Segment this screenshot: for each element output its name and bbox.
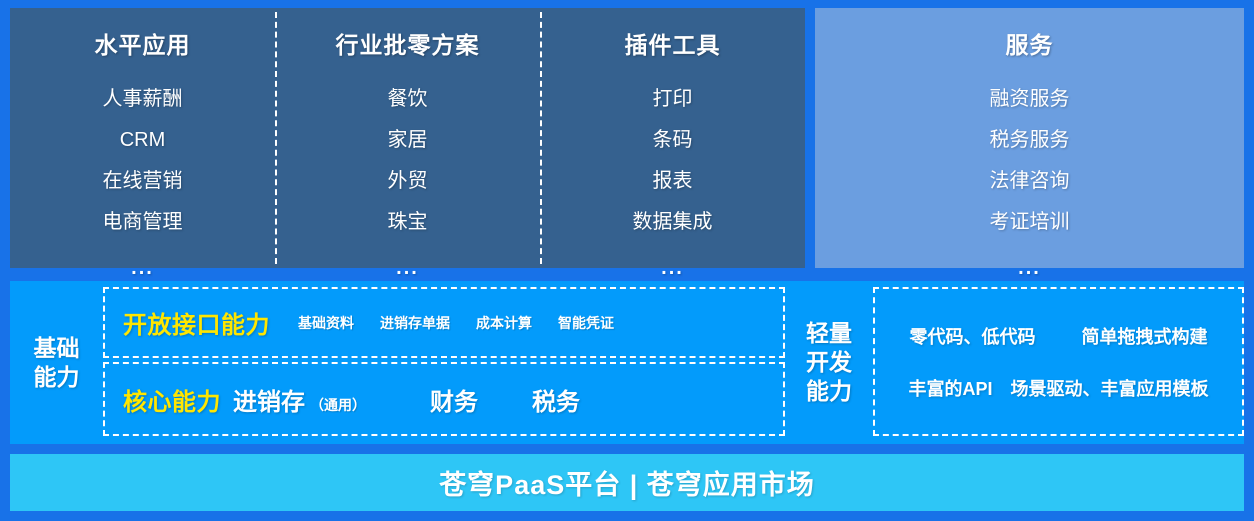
app-column-industry-solutions[interactable]: 行业批零方案 餐饮 家居 外贸 珠宝 ... <box>275 8 540 268</box>
list-ellipsis: ... <box>661 257 684 280</box>
open-api-capability-box[interactable]: 开放接口能力 基础资料 进销存单据 成本计算 智能凭证 <box>103 287 785 358</box>
core-capability-item[interactable]: 税务 <box>532 382 580 417</box>
list-ellipsis: ... <box>1018 257 1041 280</box>
base-capability-section: 基础 能力 开放接口能力 基础资料 进销存单据 成本计算 智能凭证 <box>10 281 785 444</box>
capability-tag[interactable]: 成本计算 <box>476 313 532 333</box>
open-api-tag-row: 基础资料 进销存单据 成本计算 智能凭证 <box>298 313 614 333</box>
list-item[interactable]: 融资服务 <box>990 79 1070 120</box>
light-development-row: 零代码、低代码 简单拖拽式构建 <box>889 323 1228 349</box>
light-development-row: 丰富的API 场景驱动、丰富应用模板 <box>889 375 1228 401</box>
light-development-label: 轻量 开发 能力 <box>785 281 873 444</box>
core-capability-main-note: （通用） <box>310 395 366 415</box>
list-item[interactable]: 报表 <box>653 161 693 202</box>
light-development-item[interactable]: 丰富的API <box>908 375 992 401</box>
core-capability-box[interactable]: 核心能力 进销存 （通用） 财务 税务 <box>103 362 785 436</box>
column-title: 插件工具 <box>625 26 721 60</box>
list-item[interactable]: 税务服务 <box>990 120 1070 161</box>
capabilities-band: 基础 能力 开放接口能力 基础资料 进销存单据 成本计算 智能凭证 <box>0 281 1254 444</box>
light-development-box[interactable]: 零代码、低代码 简单拖拽式构建 丰富的API 场景驱动、丰富应用模板 <box>873 287 1244 436</box>
platform-bar-title: 苍穹PaaS平台 | 苍穹应用市场 <box>439 463 815 502</box>
architecture-diagram: 水平应用 人事薪酬 CRM 在线营销 电商管理 ... 行业批零方案 餐饮 家居… <box>0 0 1254 521</box>
list-item[interactable]: 珠宝 <box>388 202 428 243</box>
column-title: 行业批零方案 <box>336 26 480 60</box>
core-capability-main[interactable]: 进销存 <box>233 382 305 417</box>
list-item[interactable]: 条码 <box>653 120 693 161</box>
list-ellipsis: ... <box>396 257 419 280</box>
services-panel[interactable]: 服务 融资服务 税务服务 法律咨询 考证培训 ... <box>815 8 1244 268</box>
capability-tag[interactable]: 进销存单据 <box>380 313 450 333</box>
list-item[interactable]: 考证培训 <box>990 202 1070 243</box>
list-item[interactable]: 家居 <box>388 120 428 161</box>
list-ellipsis: ... <box>131 257 154 280</box>
light-development-item[interactable]: 简单拖拽式构建 <box>1082 323 1208 349</box>
list-item[interactable]: 数据集成 <box>633 202 713 243</box>
list-item[interactable]: 法律咨询 <box>990 161 1070 202</box>
list-item[interactable]: 餐饮 <box>388 79 428 120</box>
platform-bar[interactable]: 苍穹PaaS平台 | 苍穹应用市场 <box>10 454 1244 511</box>
column-title: 水平应用 <box>95 26 191 60</box>
capability-tag[interactable]: 智能凭证 <box>558 313 614 333</box>
capability-tag[interactable]: 基础资料 <box>298 313 354 333</box>
list-item[interactable]: 人事薪酬 <box>103 79 183 120</box>
base-capability-boxes: 开放接口能力 基础资料 进销存单据 成本计算 智能凭证 核心能力 进销存 （通用… <box>103 281 785 444</box>
light-development-item[interactable]: 零代码、低代码 <box>910 323 1036 349</box>
list-item[interactable]: 在线营销 <box>103 161 183 202</box>
list-item[interactable]: 外贸 <box>388 161 428 202</box>
light-development-section: 轻量 开发 能力 零代码、低代码 简单拖拽式构建 丰富的API 场景驱动、丰富应… <box>785 281 1244 444</box>
base-capability-label: 基础 能力 <box>10 281 103 444</box>
list-item[interactable]: CRM <box>120 120 166 161</box>
core-capability-heading: 核心能力 <box>123 382 221 417</box>
list-item[interactable]: 打印 <box>653 79 693 120</box>
applications-panel: 水平应用 人事薪酬 CRM 在线营销 电商管理 ... 行业批零方案 餐饮 家居… <box>10 8 805 268</box>
services-title: 服务 <box>1006 26 1054 60</box>
light-development-label-line3: 能力 <box>806 377 852 406</box>
core-capability-row: 核心能力 进销存 （通用） 财务 税务 <box>123 382 783 417</box>
app-column-horizontal-apps[interactable]: 水平应用 人事薪酬 CRM 在线营销 电商管理 ... <box>10 8 275 268</box>
base-capability-label-line1: 基础 <box>34 334 80 363</box>
list-item[interactable]: 电商管理 <box>103 202 183 243</box>
core-capability-item[interactable]: 财务 <box>430 382 478 417</box>
light-development-label-line1: 轻量 <box>806 319 852 348</box>
app-column-plugin-tools[interactable]: 插件工具 打印 条码 报表 数据集成 ... <box>540 8 805 268</box>
base-capability-label-line2: 能力 <box>34 363 80 392</box>
applications-band: 水平应用 人事薪酬 CRM 在线营销 电商管理 ... 行业批零方案 餐饮 家居… <box>0 0 1254 276</box>
light-development-label-line2: 开发 <box>806 348 852 377</box>
open-api-heading: 开放接口能力 <box>123 305 270 340</box>
light-development-item[interactable]: 场景驱动、丰富应用模板 <box>1011 375 1209 401</box>
